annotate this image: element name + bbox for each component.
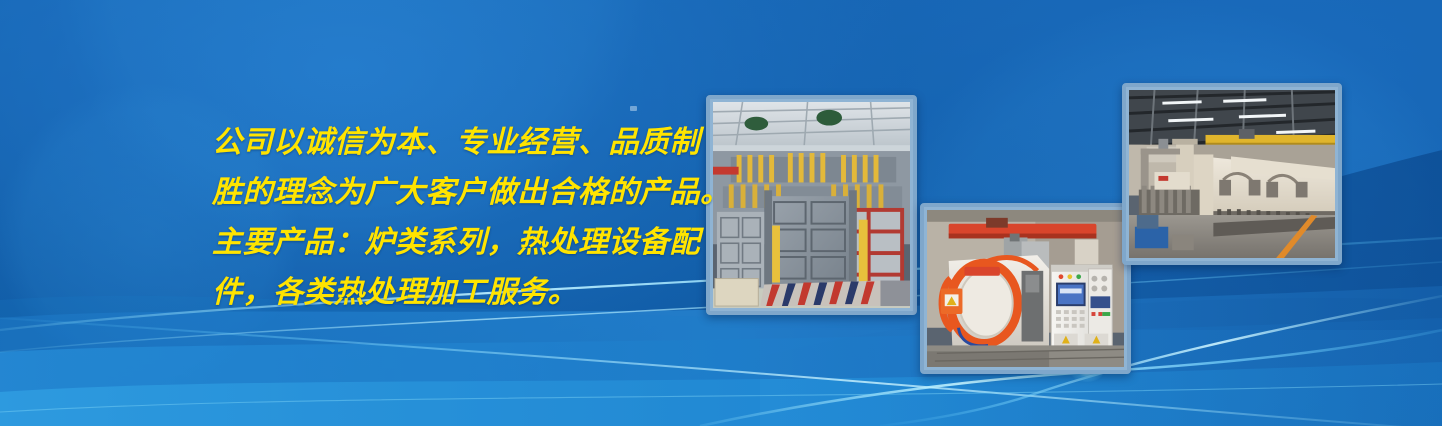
photo-continuous-furnace[interactable]: [1122, 83, 1342, 265]
headline-line-2: 胜的理念为广大客户做出合格的产品。: [212, 168, 732, 218]
headline-line-1: 公司以诚信为本、专业经营、品质制: [212, 118, 732, 168]
cursor-artifact: [630, 106, 637, 111]
photo-bell-furnace-line[interactable]: [706, 95, 917, 315]
photo-vacuum-furnace-image: [927, 210, 1124, 367]
headline-block: 公司以诚信为本、专业经营、品质制 胜的理念为广大客户做出合格的产品。 主要产品：…: [212, 118, 732, 318]
headline-line-3: 主要产品：炉类系列，热处理设备配: [212, 218, 732, 268]
photo-bell-furnace-line-image: [713, 102, 910, 308]
photo-vacuum-furnace[interactable]: [920, 203, 1131, 374]
promo-banner: 公司以诚信为本、专业经营、品质制 胜的理念为广大客户做出合格的产品。 主要产品：…: [0, 0, 1442, 426]
headline-line-4: 件，各类热处理加工服务。: [212, 268, 732, 318]
photo-continuous-furnace-image: [1129, 90, 1335, 258]
